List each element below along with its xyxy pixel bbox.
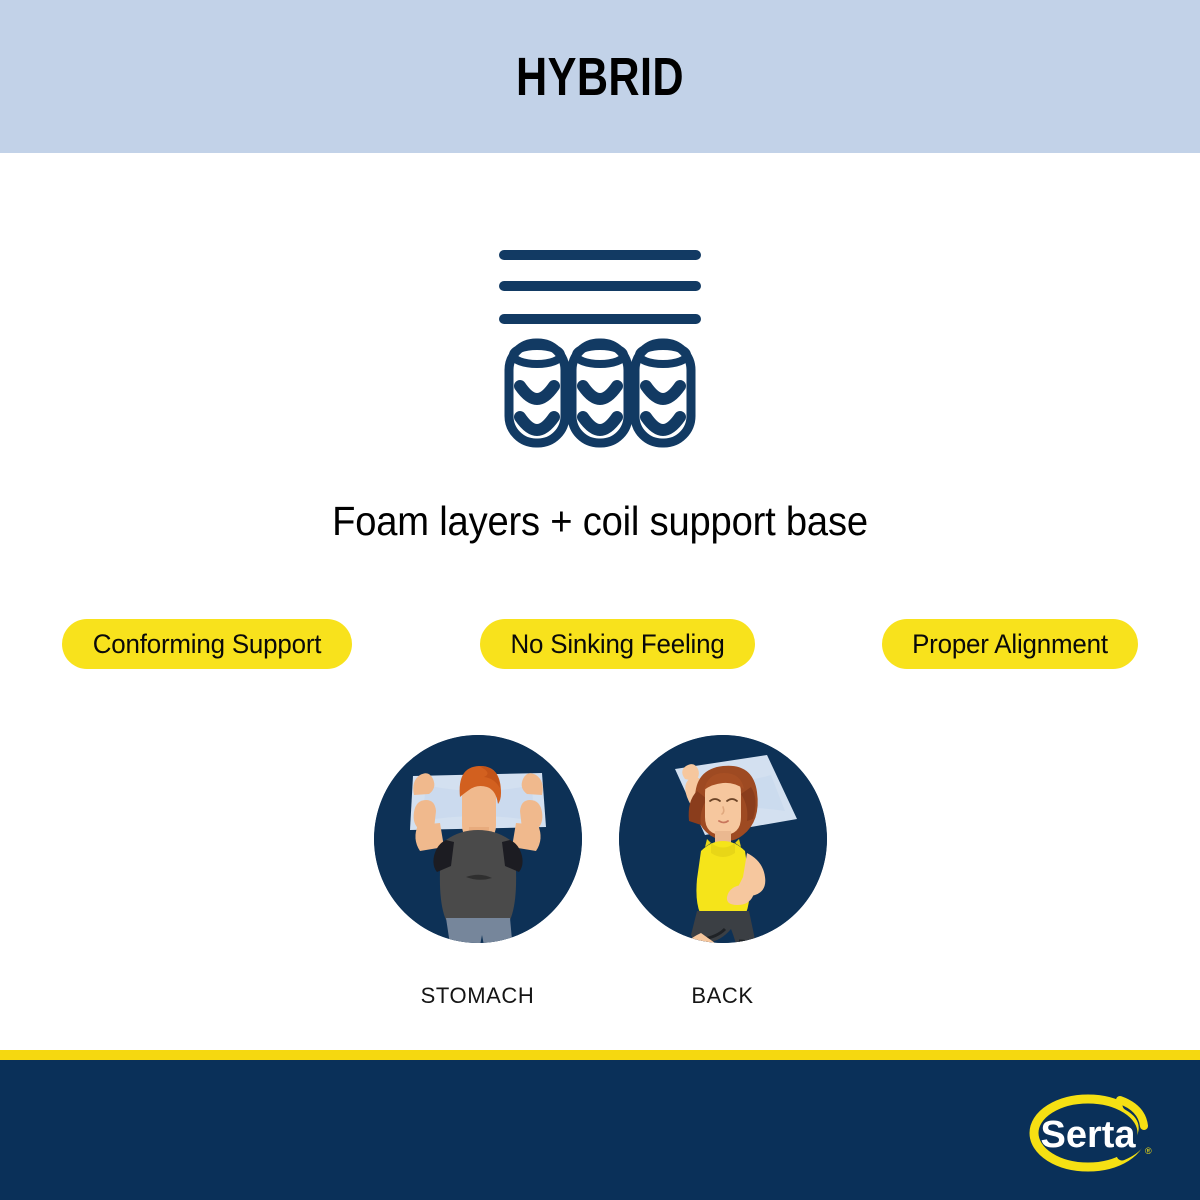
shorts-hem-right xyxy=(739,941,755,943)
torso xyxy=(433,830,522,920)
benefit-pill-proper-alignment[interactable]: Proper Alignment xyxy=(882,619,1138,669)
header-band: HYBRID xyxy=(0,0,1200,153)
support-coil xyxy=(635,343,691,443)
stomach-sleeper-illustration xyxy=(374,735,582,943)
shorts xyxy=(446,918,513,943)
stomach-sleeper-circle xyxy=(374,735,582,943)
support-coil xyxy=(509,343,565,443)
support-coil-group xyxy=(509,343,691,443)
benefit-pill-label: Conforming Support xyxy=(93,629,322,660)
benefit-pill-no-sinking-feeling[interactable]: No Sinking Feeling xyxy=(480,619,755,669)
serta-wordmark: Serta xyxy=(1040,1114,1136,1156)
sleep-position-back[interactable]: BACK xyxy=(619,735,827,1009)
face xyxy=(704,773,744,835)
sleep-position-label-back: BACK xyxy=(691,983,753,1009)
back-sleeper-illustration xyxy=(619,735,827,943)
sleep-position-label-stomach: STOMACH xyxy=(421,983,535,1009)
benefit-pill-conforming-support[interactable]: Conforming Support xyxy=(62,619,352,669)
back-sleeper-circle xyxy=(619,735,827,943)
benefit-pill-row: Conforming Support No Sinking Feeling Pr… xyxy=(62,619,1138,669)
hybrid-icon-container xyxy=(0,210,1200,460)
footer-accent-stripe xyxy=(0,1050,1200,1060)
construction-description: Foam layers + coil support base xyxy=(42,498,1158,545)
serta-logo[interactable]: Serta ® xyxy=(1024,1092,1156,1178)
hybrid-mattress-card: HYBRID xyxy=(0,0,1200,1200)
benefit-pill-label: No Sinking Feeling xyxy=(510,629,724,660)
hybrid-mattress-icon xyxy=(495,223,705,448)
benefit-pill-label: Proper Alignment xyxy=(912,629,1108,660)
sleep-position-stomach[interactable]: STOMACH xyxy=(374,735,582,1009)
sleep-position-row: STOMACH xyxy=(0,735,1200,1009)
registered-trademark-mark: ® xyxy=(1145,1146,1152,1156)
footer-band xyxy=(0,1060,1200,1200)
page-title: HYBRID xyxy=(516,50,684,104)
support-coil xyxy=(572,343,628,443)
